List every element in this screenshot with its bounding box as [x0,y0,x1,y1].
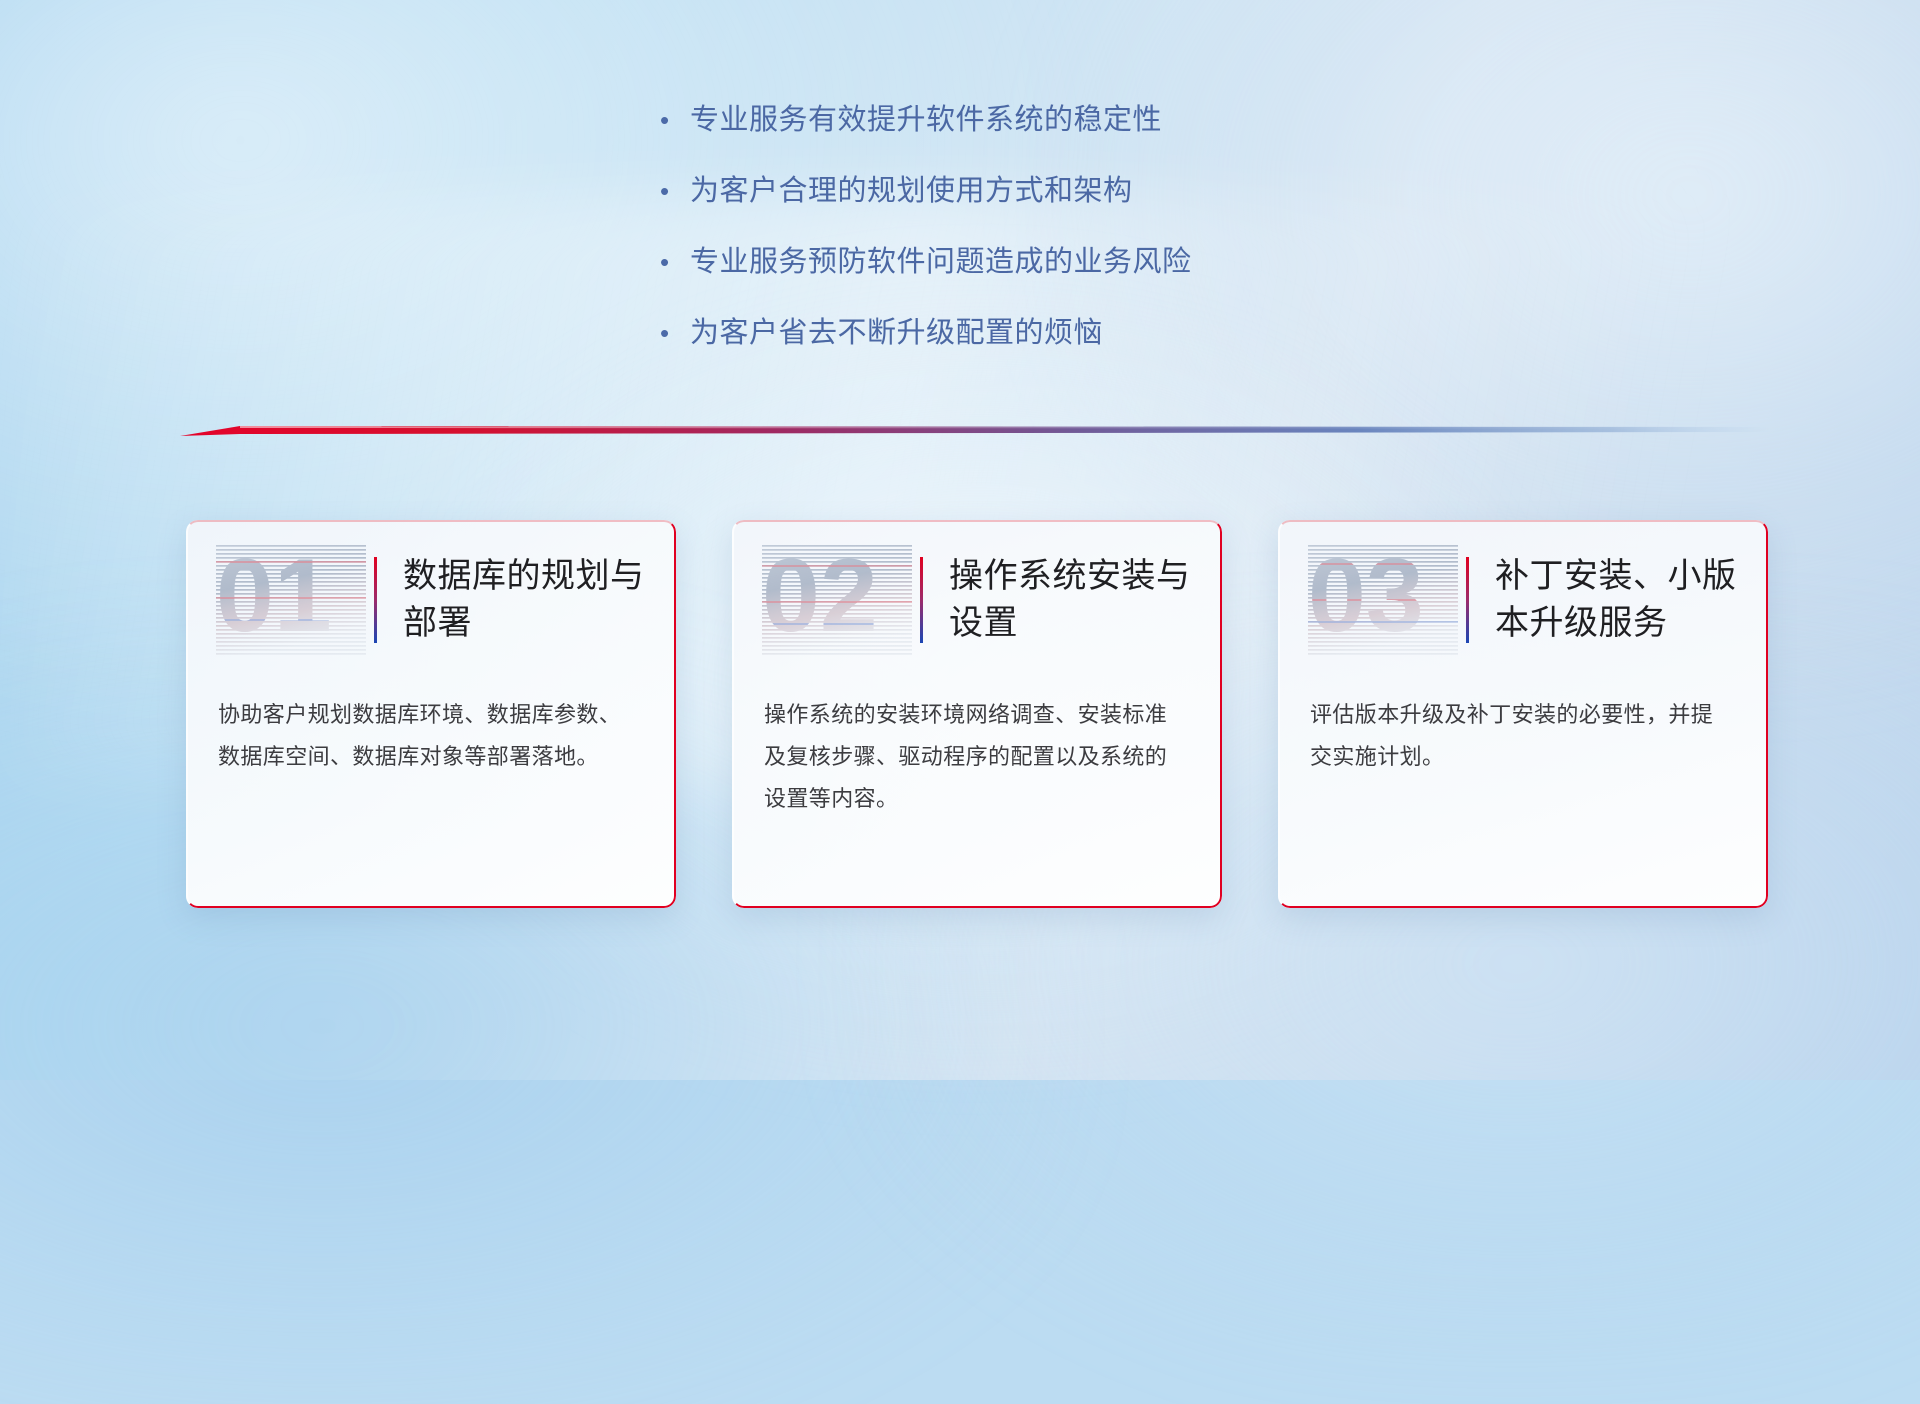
card-title: 操作系统安装与设置 [949,553,1196,647]
section-divider [180,424,1770,440]
bullet-dot-icon: • [660,313,690,353]
card-body-text: 协助客户规划数据库环境、数据库参数、数据库空间、数据库对象等部署落地。 [186,650,676,778]
bullet-dot-icon: • [660,242,690,282]
list-item: • 为客户合理的规划使用方式和架构 [660,171,1560,211]
card-title-rule [374,557,377,643]
service-card[interactable]: 02 操作系统安装与设置 操作系统的安装环境网络调查、安装标准及复核步骤、驱动程… [732,520,1222,908]
card-header: 01 数据库的规划与部署 [186,520,676,650]
bullet-text: 专业服务有效提升软件系统的稳定性 [690,100,1162,140]
card-number-02: 02 [762,545,912,655]
card-number-03: 03 [1308,545,1458,655]
bullet-text: 为客户合理的规划使用方式和架构 [690,171,1133,211]
bullet-text: 专业服务预防软件问题造成的业务风险 [690,242,1192,282]
card-body-text: 评估版本升级及补丁安装的必要性，并提交实施计划。 [1278,650,1768,778]
service-card[interactable]: 01 数据库的规划与部署 协助客户规划数据库环境、数据库参数、数据库空间、数据库… [186,520,676,908]
list-item: • 为客户省去不断升级配置的烦恼 [660,313,1560,353]
bullet-dot-icon: • [660,171,690,211]
bullet-text: 为客户省去不断升级配置的烦恼 [690,313,1103,353]
card-title: 补丁安装、小版本升级服务 [1495,553,1742,647]
card-title: 数据库的规划与部署 [403,553,650,647]
list-item: • 专业服务预防软件问题造成的业务风险 [660,242,1560,282]
card-title-rule [1466,557,1469,643]
card-header: 03 补丁安装、小版本升级服务 [1278,520,1768,650]
service-card[interactable]: 03 补丁安装、小版本升级服务 评估版本升级及补丁安装的必要性，并提交实施计划。 [1278,520,1768,908]
card-header: 02 操作系统安装与设置 [732,520,1222,650]
service-card-list: 01 数据库的规划与部署 协助客户规划数据库环境、数据库参数、数据库空间、数据库… [186,520,1768,908]
card-body-text: 操作系统的安装环境网络调查、安装标准及复核步骤、驱动程序的配置以及系统的设置等内… [732,650,1222,820]
benefits-bullet-list: • 专业服务有效提升软件系统的稳定性 • 为客户合理的规划使用方式和架构 • 专… [660,100,1560,384]
list-item: • 专业服务有效提升软件系统的稳定性 [660,100,1560,140]
card-number-01: 01 [216,545,366,655]
card-title-rule [920,557,923,643]
bullet-dot-icon: • [660,100,690,140]
